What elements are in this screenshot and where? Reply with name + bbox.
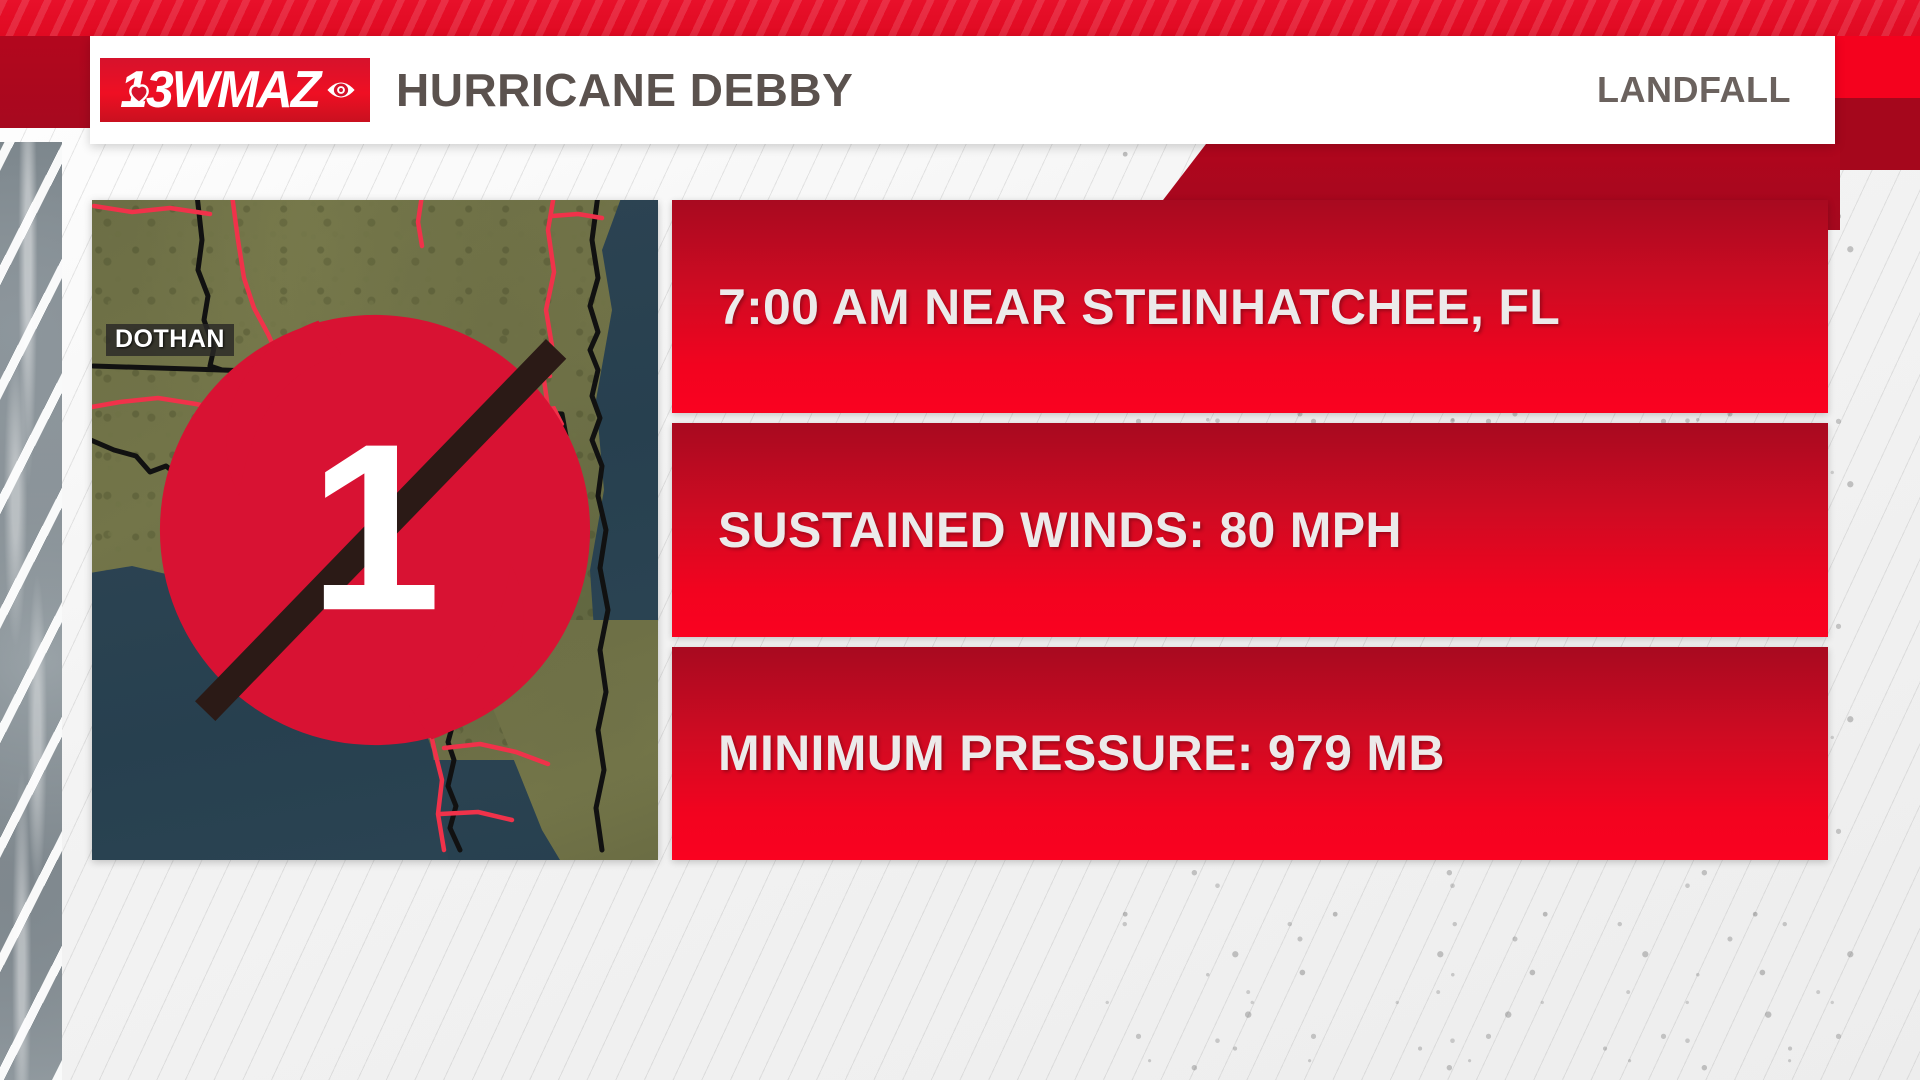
storm-stats-panel-group: 7:00 AM NEAR STEINHATCHEE, FL SUSTAINED … bbox=[672, 200, 1828, 860]
stat-panel-time-location-text: 7:00 AM NEAR STEINHATCHEE, FL bbox=[718, 282, 1560, 332]
page-title: HURRICANE DEBBY bbox=[396, 67, 853, 113]
hurricane-category-number: 1 bbox=[309, 395, 441, 660]
heart-icon bbox=[126, 80, 152, 106]
storm-location-map[interactable]: DOTHAN VALDOSTA TAMPA 1 bbox=[92, 200, 658, 860]
top-red-striped-band bbox=[0, 0, 1920, 36]
stat-panel-sustained-winds-text: SUSTAINED WINDS: 80 MPH bbox=[718, 505, 1402, 555]
header-bar: 13WMAZ HURRICANE DEBBY LANDFALL bbox=[90, 36, 1835, 144]
stat-panel-sustained-winds[interactable]: SUSTAINED WINDS: 80 MPH bbox=[672, 423, 1828, 636]
header-status-label: LANDFALL bbox=[1597, 72, 1791, 108]
stat-panel-minimum-pressure[interactable]: MINIMUM PRESSURE: 979 MB bbox=[672, 647, 1828, 860]
background-left-concrete-strip bbox=[0, 142, 62, 1080]
cbs-eye-icon bbox=[326, 80, 356, 100]
stat-panel-time-location[interactable]: 7:00 AM NEAR STEINHATCHEE, FL bbox=[672, 200, 1828, 413]
station-logo[interactable]: 13WMAZ bbox=[100, 58, 370, 122]
hurricane-symbol-icon: 1 bbox=[92, 200, 658, 860]
broadcast-graphic-stage: 13WMAZ HURRICANE DEBBY LANDFALL bbox=[0, 0, 1920, 1080]
stat-panel-minimum-pressure-text: MINIMUM PRESSURE: 979 MB bbox=[718, 728, 1445, 778]
